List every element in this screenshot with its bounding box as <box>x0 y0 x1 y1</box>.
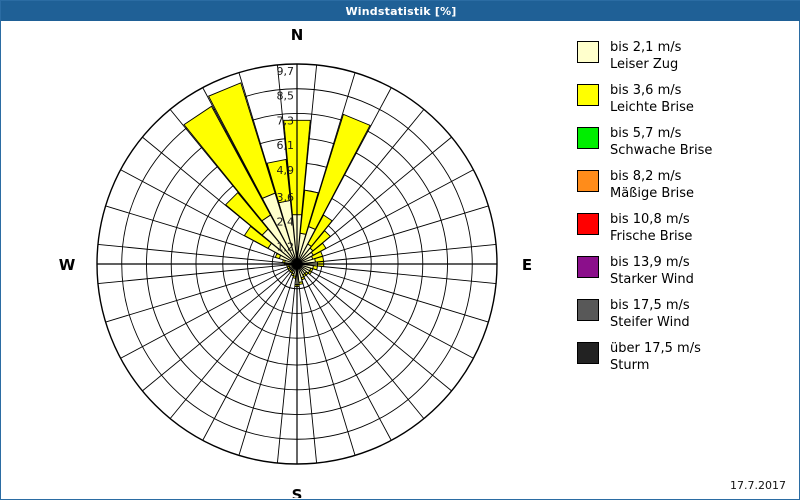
legend-speed-range: bis 8,2 m/s <box>610 169 681 184</box>
grid-spoke <box>297 264 424 419</box>
compass-label-west: W <box>59 256 76 274</box>
radial-tick-label: 7,3 <box>277 114 295 127</box>
window-title: Windstatistik [%] <box>345 5 456 18</box>
legend-item[interactable]: bis 13,9 m/sStarker Wind <box>577 254 792 288</box>
compass-label-north: N <box>291 26 304 44</box>
legend-beaufort-name: Starker Wind <box>610 271 694 288</box>
legend-item[interactable]: bis 2,1 m/sLeiser Zug <box>577 39 792 73</box>
radial-tick-label: 4,9 <box>277 164 295 177</box>
window-content: 1,22,43,64,96,17,38,59,7 NESW bis 2,1 m/… <box>2 21 798 498</box>
legend-beaufort-name: Leiser Zug <box>610 56 681 73</box>
wind-rose-segment <box>313 266 318 270</box>
grid-spoke <box>106 264 297 322</box>
legend-speed-range: bis 13,9 m/s <box>610 255 690 270</box>
compass-label-south: S <box>292 486 303 498</box>
grid-spoke <box>239 264 297 455</box>
legend-item[interactable]: bis 10,8 m/sFrische Brise <box>577 211 792 245</box>
legend-color-swatch <box>577 127 599 149</box>
wind-rose-segment <box>299 282 303 285</box>
legend-speed-range: über 17,5 m/s <box>610 341 701 356</box>
legend-beaufort-name: Mäßige Brise <box>610 185 694 202</box>
legend-speed-range: bis 5,7 m/s <box>610 126 681 141</box>
date-stamp: 17.7.2017 <box>730 479 786 492</box>
legend-speed-range: bis 17,5 m/s <box>610 298 690 313</box>
legend-beaufort-name: Schwache Brise <box>610 142 712 159</box>
legend: bis 2,1 m/sLeiser Zugbis 3,6 m/sLeichte … <box>577 39 792 383</box>
legend-item[interactable]: bis 8,2 m/sMäßige Brise <box>577 168 792 202</box>
legend-speed-range: bis 3,6 m/s <box>610 83 681 98</box>
grid-spoke <box>297 264 488 322</box>
polar-axes <box>97 64 497 464</box>
legend-speed-range: bis 10,8 m/s <box>610 212 690 227</box>
legend-label: über 17,5 m/sSturm <box>610 340 701 374</box>
wind-rose-svg: 1,22,43,64,96,17,38,59,7 NESW <box>2 21 562 498</box>
legend-label: bis 17,5 m/sSteifer Wind <box>610 297 690 331</box>
radial-tick-label: 3,6 <box>277 191 295 204</box>
legend-color-swatch <box>577 299 599 321</box>
grid-spoke <box>297 264 355 455</box>
legend-beaufort-name: Steifer Wind <box>610 314 690 331</box>
wind-rose-chart: 1,22,43,64,96,17,38,59,7 NESW <box>2 21 562 498</box>
radial-tick-label: 2,4 <box>277 216 295 229</box>
legend-label: bis 3,6 m/sLeichte Brise <box>610 82 694 116</box>
radial-tick-label: 6,1 <box>277 139 295 152</box>
legend-color-swatch <box>577 213 599 235</box>
legend-beaufort-name: Leichte Brise <box>610 99 694 116</box>
legend-item[interactable]: bis 5,7 m/sSchwache Brise <box>577 125 792 159</box>
radial-tick-label: 1,2 <box>277 240 295 253</box>
legend-item[interactable]: bis 17,5 m/sSteifer Wind <box>577 297 792 331</box>
legend-color-swatch <box>577 170 599 192</box>
legend-label: bis 2,1 m/sLeiser Zug <box>610 39 681 73</box>
wind-statistics-window: Windstatistik [%] 1,22,43,64,96,17,38,59… <box>0 0 800 500</box>
legend-label: bis 10,8 m/sFrische Brise <box>610 211 692 245</box>
legend-item[interactable]: bis 3,6 m/sLeichte Brise <box>577 82 792 116</box>
legend-label: bis 5,7 m/sSchwache Brise <box>610 125 712 159</box>
legend-item[interactable]: über 17,5 m/sSturm <box>577 340 792 374</box>
legend-speed-range: bis 2,1 m/s <box>610 40 681 55</box>
legend-beaufort-name: Sturm <box>610 357 701 374</box>
grid-spoke <box>297 264 452 391</box>
legend-color-swatch <box>577 256 599 278</box>
wind-rose-segment <box>291 273 294 276</box>
window-titlebar: Windstatistik [%] <box>1 1 800 21</box>
legend-beaufort-name: Frische Brise <box>610 228 692 245</box>
legend-label: bis 8,2 m/sMäßige Brise <box>610 168 694 202</box>
legend-color-swatch <box>577 41 599 63</box>
radial-tick-label: 9,7 <box>277 65 295 78</box>
legend-label: bis 13,9 m/sStarker Wind <box>610 254 694 288</box>
grid-spoke <box>142 264 297 391</box>
compass-label-east: E <box>522 256 532 274</box>
grid-spoke <box>170 264 297 419</box>
radial-tick-label: 8,5 <box>277 90 295 103</box>
legend-color-swatch <box>577 84 599 106</box>
legend-color-swatch <box>577 342 599 364</box>
